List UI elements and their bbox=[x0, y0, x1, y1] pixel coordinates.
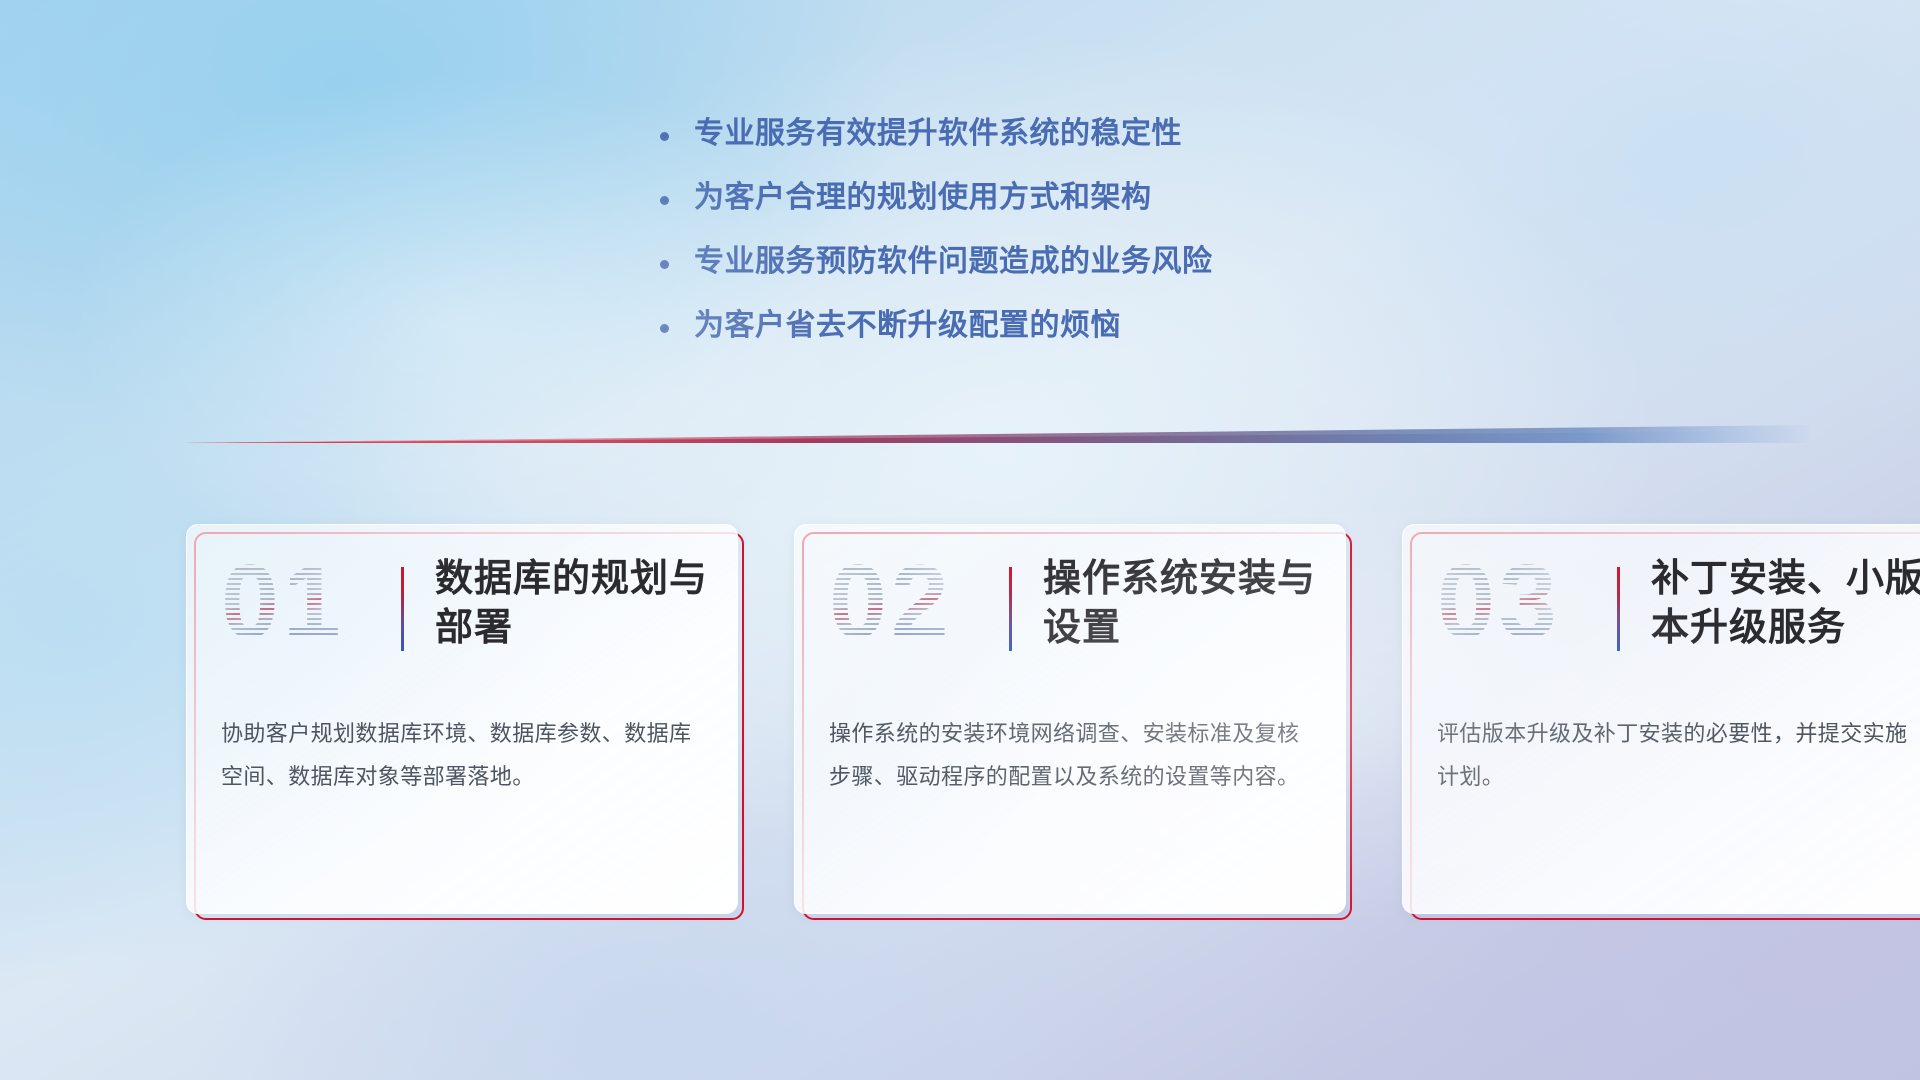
service-card-list: 01 01 数据库的规划与部署 协助客户规划数据库环境、数据库参数、数据库空间、… bbox=[186, 524, 1920, 914]
benefits-bullet-list: 专业服务有效提升软件系统的稳定性 为客户合理的规划使用方式和架构 专业服务预防软… bbox=[660, 108, 1560, 364]
bullet-dot-icon bbox=[660, 245, 694, 275]
bullet-text: 专业服务有效提升软件系统的稳定性 bbox=[694, 108, 1182, 152]
list-item: 专业服务预防软件问题造成的业务风险 bbox=[660, 236, 1560, 300]
card-title-rule bbox=[401, 567, 404, 651]
card-number-watermark-tint: 01 bbox=[221, 543, 391, 661]
card-number-watermark-tint: 02 bbox=[829, 543, 999, 661]
card-title: 操作系统安装与设置 bbox=[1043, 555, 1321, 654]
service-card-02[interactable]: 02 02 操作系统安装与设置 操作系统的安装环境网络调查、安装标准及复核步骤、… bbox=[794, 524, 1346, 914]
list-item: 为客户省去不断升级配置的烦恼 bbox=[660, 300, 1560, 364]
card-description: 协助客户规划数据库环境、数据库参数、数据库空间、数据库对象等部署落地。 bbox=[221, 713, 703, 799]
card-surface: 03 03 补丁安装、小版本升级服务 评估版本升级及补丁安装的必要性，并提交实施… bbox=[1402, 524, 1920, 914]
card-header: 01 01 数据库的规划与部署 bbox=[187, 525, 737, 675]
bullet-dot-icon bbox=[660, 117, 694, 147]
list-item: 专业服务有效提升软件系统的稳定性 bbox=[660, 108, 1560, 172]
service-card-01[interactable]: 01 01 数据库的规划与部署 协助客户规划数据库环境、数据库参数、数据库空间、… bbox=[186, 524, 738, 914]
bullet-dot-icon bbox=[660, 309, 694, 339]
card-number-watermark-tint: 03 bbox=[1437, 543, 1607, 661]
section-divider bbox=[180, 425, 1810, 443]
list-item: 为客户合理的规划使用方式和架构 bbox=[660, 172, 1560, 236]
card-description: 操作系统的安装环境网络调查、安装标准及复核步骤、驱动程序的配置以及系统的设置等内… bbox=[829, 713, 1311, 799]
card-surface: 02 02 操作系统安装与设置 操作系统的安装环境网络调查、安装标准及复核步骤、… bbox=[794, 524, 1346, 914]
card-title: 补丁安装、小版本升级服务 bbox=[1651, 555, 1920, 654]
slide-canvas: 专业服务有效提升软件系统的稳定性 为客户合理的规划使用方式和架构 专业服务预防软… bbox=[0, 0, 1920, 1080]
card-surface: 01 01 数据库的规划与部署 协助客户规划数据库环境、数据库参数、数据库空间、… bbox=[186, 524, 738, 914]
bullet-text: 为客户省去不断升级配置的烦恼 bbox=[694, 300, 1121, 344]
bullet-text: 专业服务预防软件问题造成的业务风险 bbox=[694, 236, 1213, 280]
bullet-text: 为客户合理的规划使用方式和架构 bbox=[694, 172, 1152, 216]
card-header: 03 03 补丁安装、小版本升级服务 bbox=[1403, 525, 1920, 675]
card-description: 评估版本升级及补丁安装的必要性，并提交实施计划。 bbox=[1437, 713, 1919, 799]
service-card-03[interactable]: 03 03 补丁安装、小版本升级服务 评估版本升级及补丁安装的必要性，并提交实施… bbox=[1402, 524, 1920, 914]
card-header: 02 02 操作系统安装与设置 bbox=[795, 525, 1345, 675]
card-title-rule bbox=[1617, 567, 1620, 651]
bullet-dot-icon bbox=[660, 181, 694, 211]
card-title-rule bbox=[1009, 567, 1012, 651]
card-title: 数据库的规划与部署 bbox=[435, 555, 713, 654]
